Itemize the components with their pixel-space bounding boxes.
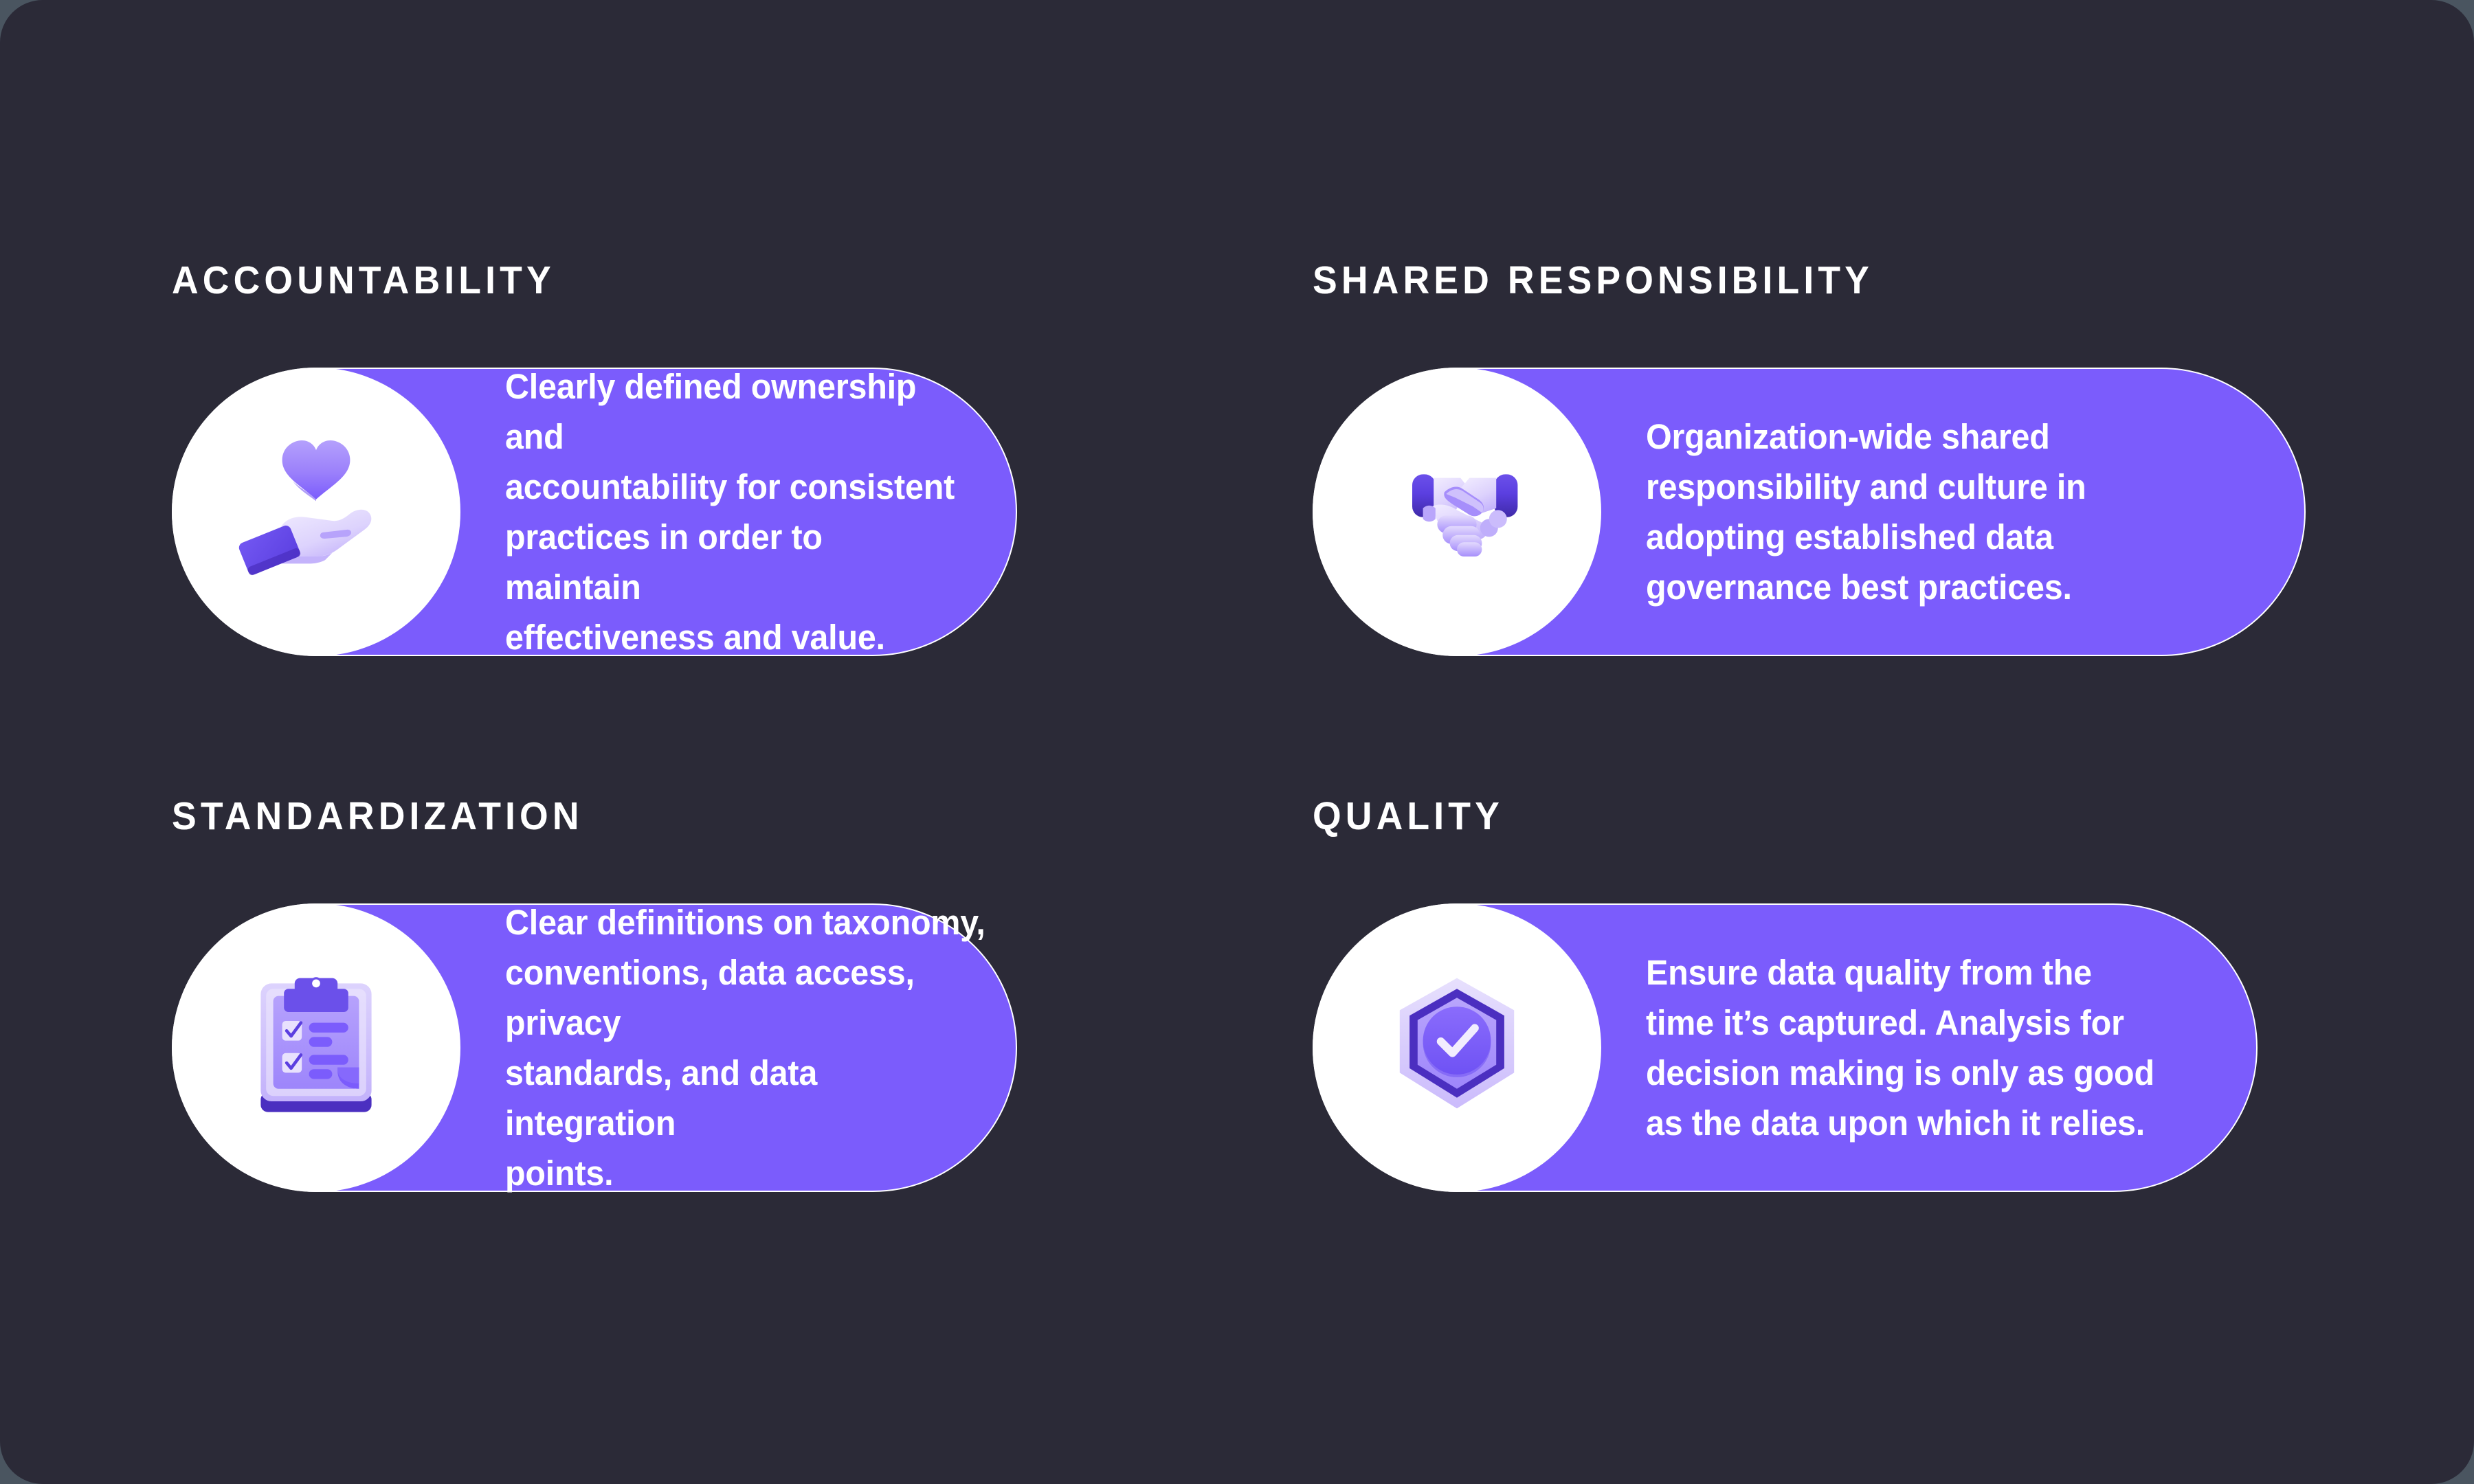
heart-in-hand-icon — [227, 423, 405, 601]
card-quality: QUALITY Ensure data quality from the tim… — [1313, 797, 2309, 1333]
card-body-text: Organization-wide shared responsibility … — [1646, 412, 2168, 612]
card-body-text: Ensure data quality from the time it’s c… — [1646, 947, 2168, 1148]
card-icon-disc — [172, 368, 460, 656]
card-shared-responsibility: SHARED RESPONSIBILITY Organization-wide … — [1313, 261, 2309, 797]
card-body-text: Clear definitions on taxonomy, conventio… — [505, 897, 988, 1198]
card-icon-disc — [172, 903, 460, 1192]
card-heading: STANDARDIZATION — [172, 797, 583, 836]
shield-check-icon — [1368, 958, 1546, 1137]
card-icon-disc — [1313, 368, 1601, 656]
card-accountability: ACCOUNTABILITY Clearly defined ownership… — [172, 261, 1313, 797]
card-body-wrap: Clearly defined ownership and accountabi… — [505, 368, 986, 656]
card-body-wrap: Organization-wide shared responsibility … — [1646, 368, 2196, 656]
card-body-wrap: Clear definitions on taxonomy, conventio… — [505, 903, 1014, 1192]
principles-grid: ACCOUNTABILITY Clearly defined ownership… — [172, 261, 2309, 1333]
card-body-text: Clearly defined ownership and accountabi… — [505, 361, 962, 662]
card-standardization: STANDARDIZATION Clear definitions on tax… — [172, 797, 1313, 1333]
card-heading: ACCOUNTABILITY — [172, 261, 555, 300]
card-heading: SHARED RESPONSIBILITY — [1313, 261, 1873, 300]
handshake-icon — [1368, 423, 1546, 601]
infographic-canvas: ACCOUNTABILITY Clearly defined ownership… — [0, 0, 2474, 1484]
card-heading: QUALITY — [1313, 797, 1504, 836]
card-body-wrap: Ensure data quality from the time it’s c… — [1646, 903, 2196, 1192]
card-icon-disc — [1313, 903, 1601, 1192]
clipboard-checklist-icon — [227, 958, 405, 1137]
